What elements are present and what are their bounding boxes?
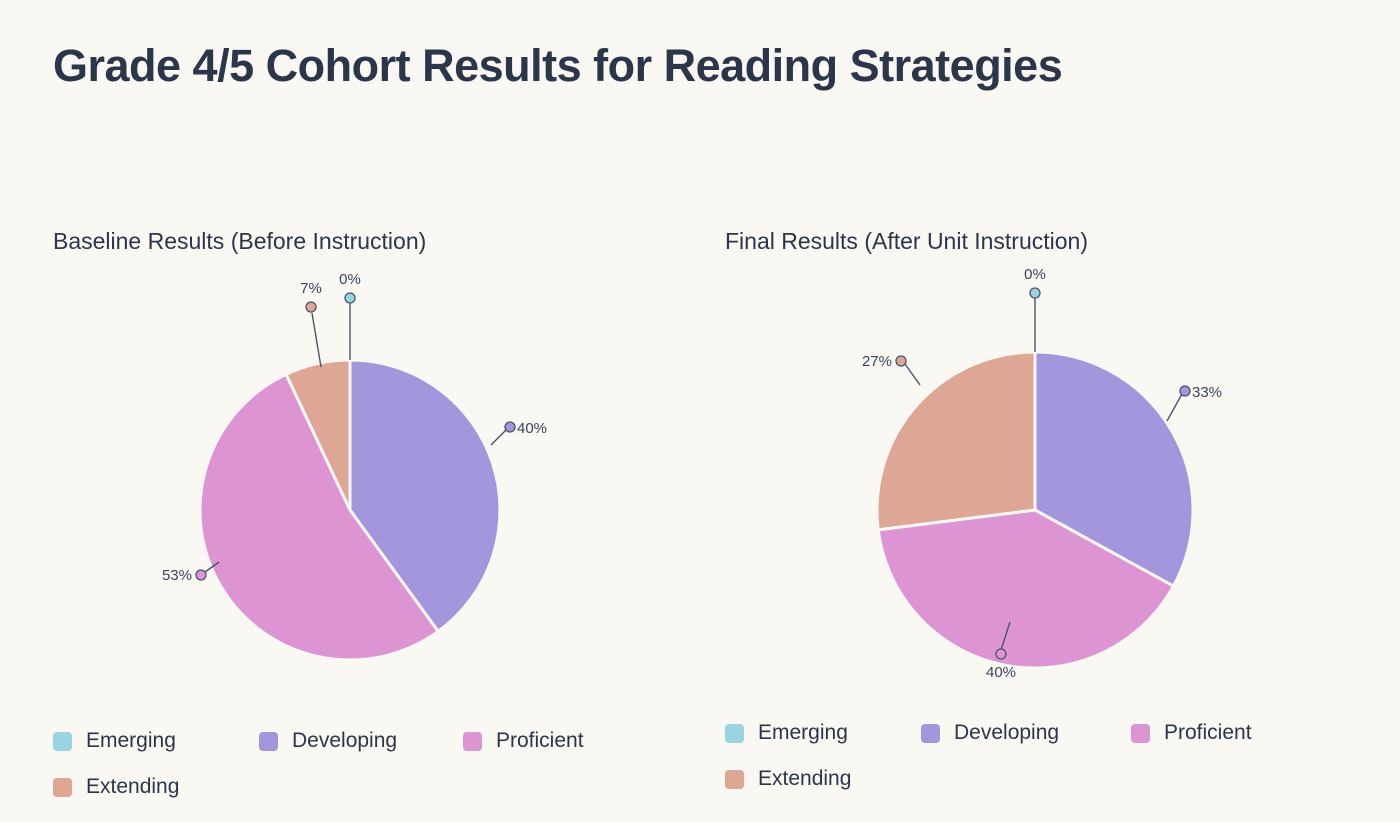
legend-label-developing: Developing xyxy=(292,729,397,753)
pie-svg-baseline: 0% 40% 53% 7% xyxy=(53,268,713,698)
legend-item-extending[interactable]: Extending xyxy=(53,764,259,810)
pie-label-developing: 33% xyxy=(1167,384,1222,421)
legend-label-developing: Developing xyxy=(954,721,1059,745)
pie-label-extending: 27% xyxy=(862,353,920,385)
pie-label-developing-text: 33% xyxy=(1192,384,1222,401)
chart-panel-baseline: Baseline Results (Before Instruction) 0%… xyxy=(53,210,713,810)
legend-row: Extending xyxy=(53,764,693,810)
legend-item-developing[interactable]: Developing xyxy=(921,710,1131,756)
legend-baseline: Emerging Developing Proficient Extending xyxy=(53,718,693,810)
pie-chart-final: 0% 33% 40% 27% xyxy=(725,268,1385,698)
legend-label-extending: Extending xyxy=(758,767,851,791)
pie-svg-final: 0% 33% 40% 27% xyxy=(725,268,1385,698)
legend-swatch-icon-developing xyxy=(259,732,278,751)
legend-label-extending: Extending xyxy=(86,775,179,799)
pie-label-developing: 40% xyxy=(491,420,547,445)
chart-panel-final: Final Results (After Unit Instruction) 0… xyxy=(725,210,1385,810)
legend-label-emerging: Emerging xyxy=(86,729,176,753)
legend-item-proficient[interactable]: Proficient xyxy=(463,718,584,764)
page-title: Grade 4/5 Cohort Results for Reading Str… xyxy=(53,40,1062,92)
pie-label-emerging: 0% xyxy=(339,271,361,360)
pie-label-proficient-text: 40% xyxy=(986,664,1016,681)
pie-label-proficient-text: 53% xyxy=(162,567,192,584)
legend-item-extending[interactable]: Extending xyxy=(725,756,921,802)
legend-item-proficient[interactable]: Proficient xyxy=(1131,710,1252,756)
pie-slice-extending[interactable] xyxy=(877,352,1035,530)
legend-item-developing[interactable]: Developing xyxy=(259,718,463,764)
legend-swatch-icon-proficient xyxy=(463,732,482,751)
legend-swatch-icon-extending xyxy=(53,778,72,797)
pie-label-emerging-text: 0% xyxy=(1024,268,1046,283)
legend-swatch-icon-emerging xyxy=(53,732,72,751)
legend-item-emerging[interactable]: Emerging xyxy=(725,710,921,756)
pie-label-extending-text: 27% xyxy=(862,353,892,370)
legend-row: Emerging Developing Proficient xyxy=(53,718,693,764)
legend-swatch-icon-extending xyxy=(725,770,744,789)
pie-label-developing-text: 40% xyxy=(517,420,547,437)
pie-label-extending-text: 7% xyxy=(300,280,322,297)
legend-row: Extending xyxy=(725,756,1365,802)
pie-label-emerging-text: 0% xyxy=(339,271,361,288)
legend-row: Emerging Developing Proficient xyxy=(725,710,1365,756)
legend-swatch-icon-proficient xyxy=(1131,724,1150,743)
chart-subtitle-final: Final Results (After Unit Instruction) xyxy=(725,228,1088,255)
chart-subtitle-baseline: Baseline Results (Before Instruction) xyxy=(53,228,426,255)
legend-label-proficient: Proficient xyxy=(496,729,584,753)
legend-final: Emerging Developing Proficient Extending xyxy=(725,710,1365,802)
pie-label-extending: 7% xyxy=(300,280,322,367)
pie-label-emerging: 0% xyxy=(1024,268,1046,352)
legend-swatch-icon-developing xyxy=(921,724,940,743)
pie-chart-baseline: 0% 40% 53% 7% xyxy=(53,268,713,698)
legend-label-emerging: Emerging xyxy=(758,721,848,745)
legend-label-proficient: Proficient xyxy=(1164,721,1252,745)
legend-swatch-icon-emerging xyxy=(725,724,744,743)
legend-item-emerging[interactable]: Emerging xyxy=(53,718,259,764)
